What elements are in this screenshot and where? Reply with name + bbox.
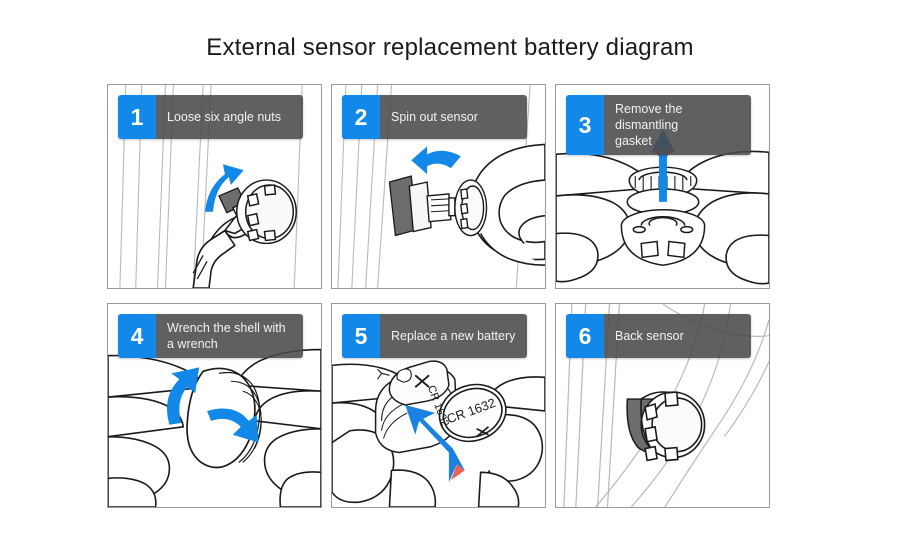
step-3-number: 3 [566, 95, 604, 155]
step-panel-2[interactable]: 2 Spin out sensor [331, 84, 546, 289]
step-panel-4[interactable]: 4 Wrench the shell with a wrench [107, 303, 322, 508]
step-1-caption: Loose six angle nuts [156, 95, 303, 139]
step-5-label: 5 Replace a new battery [342, 314, 527, 358]
step-6-caption: Back sensor [604, 314, 751, 358]
step-panel-6[interactable]: 6 Back sensor [555, 303, 770, 508]
steps-grid: 1 Loose six angle nuts [107, 84, 770, 508]
step-2-label: 2 Spin out sensor [342, 95, 527, 139]
step-4-number: 4 [118, 314, 156, 358]
step-4-caption: Wrench the shell with a wrench [156, 314, 303, 358]
step-1-label: 1 Loose six angle nuts [118, 95, 303, 139]
step-5-caption: Replace a new battery [380, 314, 527, 358]
step-3-caption: Remove the dismantling gasket [604, 95, 751, 155]
arrow-down-icon [411, 146, 461, 174]
step-1-number: 1 [118, 95, 156, 139]
step-2-caption: Spin out sensor [380, 95, 527, 139]
step-2-number: 2 [342, 95, 380, 139]
step-3-label: 3 Remove the dismantling gasket [566, 95, 751, 155]
page-title: External sensor replacement battery diag… [0, 34, 900, 62]
step-panel-5[interactable]: CR 1632 CR 1632 5 Replace a new battery [331, 303, 546, 508]
step-5-number: 5 [342, 314, 380, 358]
step-6-label: 6 Back sensor [566, 314, 751, 358]
step-panel-1[interactable]: 1 Loose six angle nuts [107, 84, 322, 289]
step-4-label: 4 Wrench the shell with a wrench [118, 314, 303, 358]
step-panel-3[interactable]: 3 Remove the dismantling gasket [555, 84, 770, 289]
step-6-number: 6 [566, 314, 604, 358]
